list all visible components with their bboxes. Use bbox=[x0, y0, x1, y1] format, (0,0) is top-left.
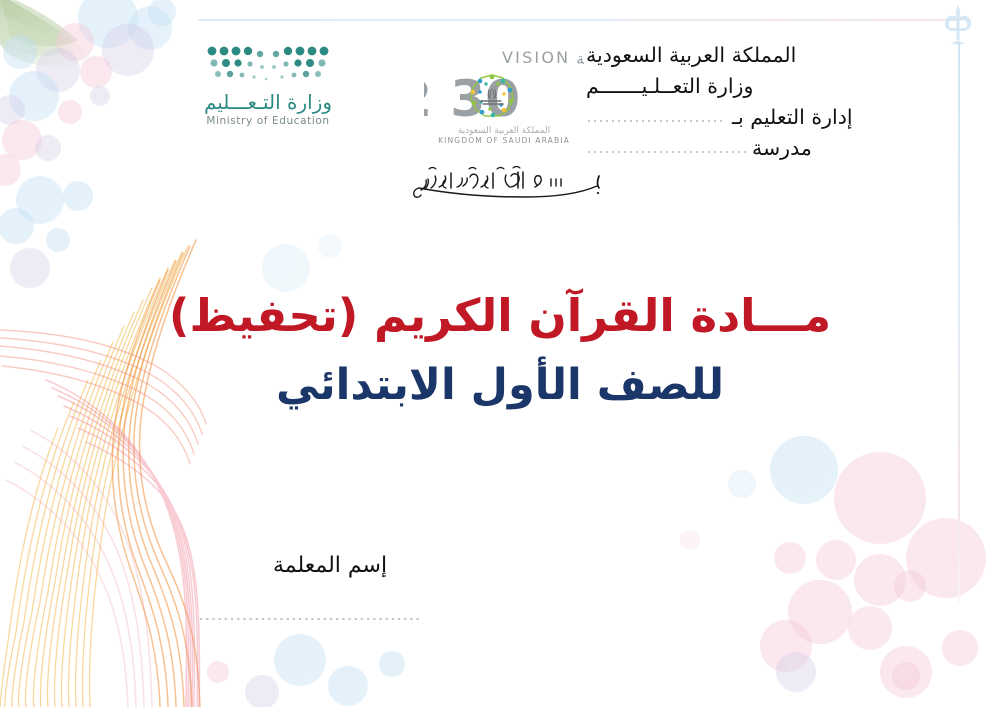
svg-text:2: 2 bbox=[424, 70, 432, 128]
bubble-cluster-right bbox=[680, 436, 986, 698]
basmala-block bbox=[0, 160, 1000, 212]
header-ministry: وزارة التعــلـيـــــــم bbox=[586, 71, 753, 102]
moe-name-arabic: وزارة التـعـــليم bbox=[168, 90, 368, 114]
header-identity-block: المملكة العربية السعودية وزارة التعــلـي… bbox=[586, 40, 926, 165]
education-dept-fill-line[interactable] bbox=[586, 109, 726, 127]
page-title-subject: مـــادة القرآن الكريم (تحفيظ) bbox=[0, 292, 1000, 339]
header-education-dept-line: إدارة التعليم بـ bbox=[586, 102, 926, 133]
teacher-name-fill-line[interactable] bbox=[198, 612, 422, 622]
moe-name-english: Ministry of Education bbox=[168, 115, 368, 127]
green-brush-stroke bbox=[0, 0, 95, 67]
bubble-cluster-center bbox=[262, 234, 342, 292]
vision-2030-logo: VISION رؤيــــة 2 30 bbox=[424, 46, 584, 146]
top-divider-line bbox=[198, 19, 958, 21]
header-ministry-line: وزارة التعــلـيـــــــم bbox=[586, 71, 926, 102]
svg-text:30: 30 bbox=[450, 70, 520, 128]
svg-text:المملكة العربية السعودية: المملكة العربية السعودية bbox=[458, 126, 550, 136]
header-country-line: المملكة العربية السعودية bbox=[586, 40, 926, 71]
svg-text:رؤيــــة: رؤيــــة bbox=[576, 49, 584, 69]
header-education-dept-label: إدارة التعليم بـ bbox=[732, 102, 853, 133]
svg-text:KINGDOM OF SAUDI ARABIA: KINGDOM OF SAUDI ARABIA bbox=[438, 136, 570, 145]
svg-text:VISION: VISION bbox=[502, 48, 570, 67]
page-title-grade: للصف الأول الابتدائي bbox=[0, 362, 1000, 409]
bubble-cluster-bottomleft bbox=[207, 634, 405, 707]
vision-2030-mandala-icon: VISION رؤيــــة 2 30 bbox=[424, 46, 584, 146]
school-fill-line[interactable] bbox=[586, 140, 746, 158]
teacher-name-label: إسم المعلمة bbox=[250, 553, 410, 578]
header-country: المملكة العربية السعودية bbox=[586, 40, 796, 71]
document-page: المملكة العربية السعودية وزارة التعــلـي… bbox=[0, 0, 1000, 707]
moe-dots-wing-icon bbox=[204, 44, 332, 88]
fleur-de-lis-icon bbox=[938, 2, 978, 46]
bubble-cluster-topleft bbox=[0, 0, 176, 288]
ministry-of-education-logo: وزارة التـعـــليم Ministry of Education bbox=[168, 44, 368, 144]
basmala-calligraphy-icon bbox=[385, 160, 615, 208]
